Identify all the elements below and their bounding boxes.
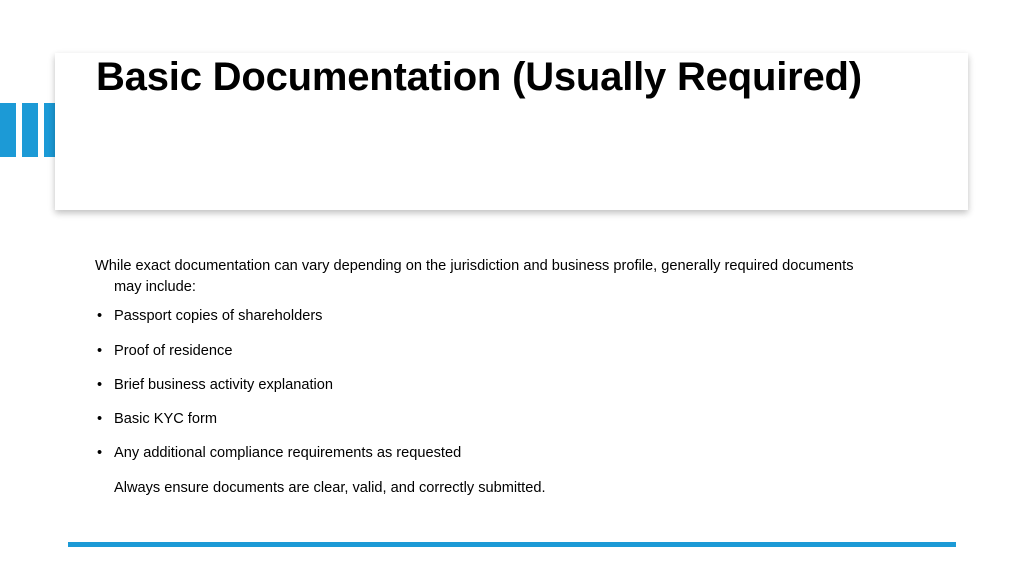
slide-body: While exact documentation can vary depen…: [95, 256, 855, 498]
bullet-dot-icon: •: [97, 409, 102, 430]
closing-note: Always ensure documents are clear, valid…: [95, 478, 855, 499]
list-item-label: Basic KYC form: [114, 411, 217, 427]
list-item-label: Brief business activity explanation: [114, 377, 333, 393]
list-item: • Brief business activity explanation: [95, 375, 855, 396]
list-item-label: Passport copies of shareholders: [114, 308, 322, 324]
bullet-dot-icon: •: [97, 306, 102, 327]
list-item: • Passport copies of shareholders: [95, 306, 855, 327]
requirements-list: • Passport copies of shareholders • Proo…: [95, 306, 855, 464]
list-item-label: Any additional compliance requirements a…: [114, 445, 461, 461]
bullet-dot-icon: •: [97, 375, 102, 396]
list-item: • Any additional compliance requirements…: [95, 443, 855, 464]
intro-paragraph: While exact documentation can vary depen…: [95, 256, 855, 297]
accent-bar-2-icon: [22, 103, 38, 157]
accent-bars-decoration: [0, 103, 60, 157]
bottom-accent-rule: [68, 542, 956, 547]
slide-title: Basic Documentation (Usually Required): [96, 51, 948, 103]
title-card: Basic Documentation (Usually Required): [55, 53, 968, 210]
list-item: • Basic KYC form: [95, 409, 855, 430]
list-item-label: Proof of residence: [114, 343, 232, 359]
bullet-dot-icon: •: [97, 443, 102, 464]
slide-canvas: Basic Documentation (Usually Required) W…: [0, 0, 1024, 576]
accent-bar-1-icon: [0, 103, 16, 157]
list-item: • Proof of residence: [95, 341, 855, 362]
bullet-dot-icon: •: [97, 341, 102, 362]
